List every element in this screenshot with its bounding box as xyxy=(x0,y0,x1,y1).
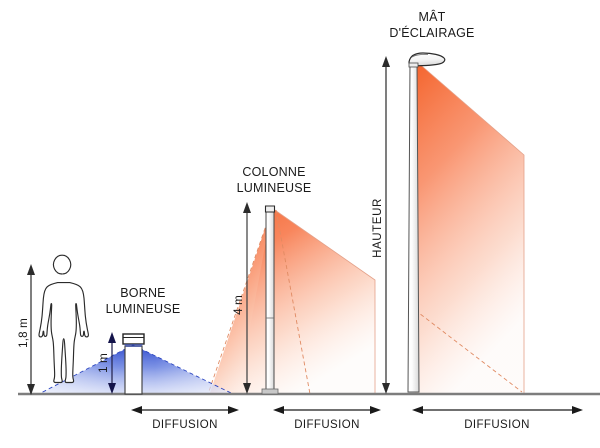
borne-diffusion-label: DIFFUSION xyxy=(152,419,218,431)
mat-diffusion-arrow-right xyxy=(572,406,583,414)
person-height-label: 1,8 m xyxy=(18,318,30,348)
colonne-title: COLONNE LUMINEUSE xyxy=(237,165,312,195)
colonne-emitter xyxy=(266,206,275,212)
borne-diffusion-arrow-right xyxy=(228,406,239,414)
person-height-dimension: 1,8 m xyxy=(18,264,35,395)
colonne-title-line1: COLONNE xyxy=(242,165,305,179)
diagram-canvas: 1,8 m 1 m BORNE LUMINEUSE xyxy=(0,0,600,448)
colonne-diffusion-arrow-left xyxy=(273,406,284,414)
colonne-height-arrow-head-top xyxy=(243,202,251,213)
mat-light-beam xyxy=(415,60,524,393)
colonne-diffusion-label: DIFFUSION xyxy=(294,419,360,431)
mat-diffusion-label: DIFFUSION xyxy=(464,419,530,431)
mat-diffusion-dimension: DIFFUSION xyxy=(412,406,583,431)
borne-title: BORNE LUMINEUSE xyxy=(106,286,181,316)
colonne-diffusion-dimension: DIFFUSION xyxy=(273,406,381,431)
mat-diffusion-arrow-left xyxy=(412,406,423,414)
mat-title-line2: D'ÉCLAIRAGE xyxy=(389,25,474,40)
borne-cap xyxy=(123,334,144,344)
mat-title-line1: MÂT xyxy=(419,9,446,24)
lighting-height-diagram: 1,8 m 1 m BORNE LUMINEUSE xyxy=(0,0,600,448)
colonne-height-label: 4 m xyxy=(233,295,245,315)
colonne-body xyxy=(266,206,274,392)
human-silhouette xyxy=(39,255,88,382)
borne-diffusion-arrow-left xyxy=(131,406,142,414)
colonne-base xyxy=(262,389,278,394)
mat-height-label: HAUTEUR xyxy=(372,198,384,258)
borne-body xyxy=(125,346,142,394)
borne-light-slot xyxy=(124,344,143,347)
mat-height-arrow-head-top xyxy=(382,56,390,67)
borne-diffusion-dimension: DIFFUSION xyxy=(131,406,239,431)
mat-beam-polygon xyxy=(415,60,524,393)
person-height-arrow-head-top xyxy=(27,264,35,275)
borne-title-line1: BORNE xyxy=(120,286,165,300)
human-body-outline xyxy=(39,255,88,382)
borne-height-label: 1 m xyxy=(98,353,110,373)
colonne-title-line2: LUMINEUSE xyxy=(237,181,312,195)
colonne-diffusion-arrow-right xyxy=(370,406,381,414)
mat-height-arrow-head-bottom xyxy=(382,383,390,394)
borne-height-arrow-head-top xyxy=(108,332,116,343)
borne-fixture xyxy=(123,334,144,394)
mat-pole xyxy=(408,62,419,392)
mat-head-collar xyxy=(409,63,418,67)
borne-title-line2: LUMINEUSE xyxy=(106,302,181,316)
mat-title: MÂT D'ÉCLAIRAGE xyxy=(389,9,474,40)
